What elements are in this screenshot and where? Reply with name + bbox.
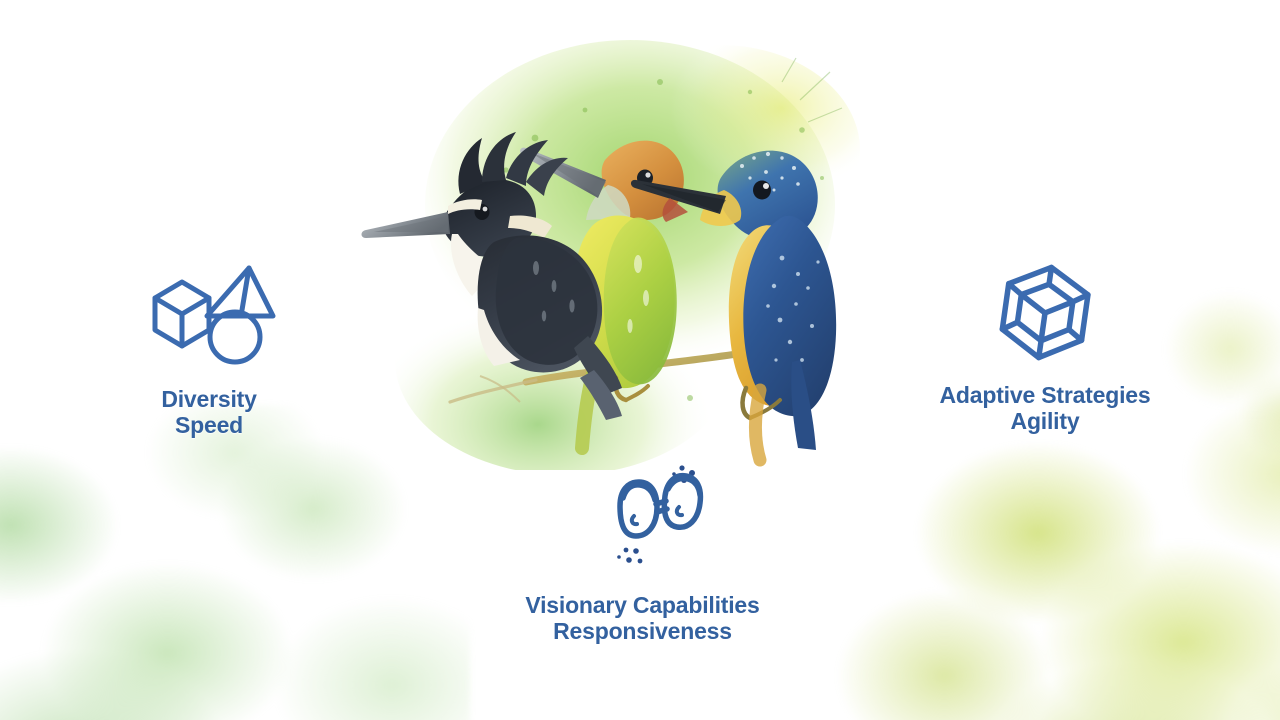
capability-label-adaptive: Adaptive Strategies Agility <box>940 383 1151 435</box>
hexagon-cube-icon <box>993 262 1097 369</box>
capability-node-adaptive[interactable]: Adaptive Strategies Agility <box>900 262 1190 435</box>
watercolor-wash-bottom-right <box>830 390 1280 720</box>
capability-label-visionary: Visionary Capabilities Responsiveness <box>525 593 759 645</box>
capability-node-diversity[interactable]: Diversity Speed <box>104 258 314 439</box>
kingfishers-illustration <box>330 30 890 470</box>
binoculars-icon <box>578 462 708 579</box>
shapes-cube-pyramid-circle-icon <box>149 258 277 373</box>
capability-node-visionary[interactable]: Visionary Capabilities Responsiveness <box>470 462 815 645</box>
capability-label-diversity: Diversity Speed <box>161 387 256 439</box>
infographic-canvas: Diversity Speed <box>0 0 1280 720</box>
